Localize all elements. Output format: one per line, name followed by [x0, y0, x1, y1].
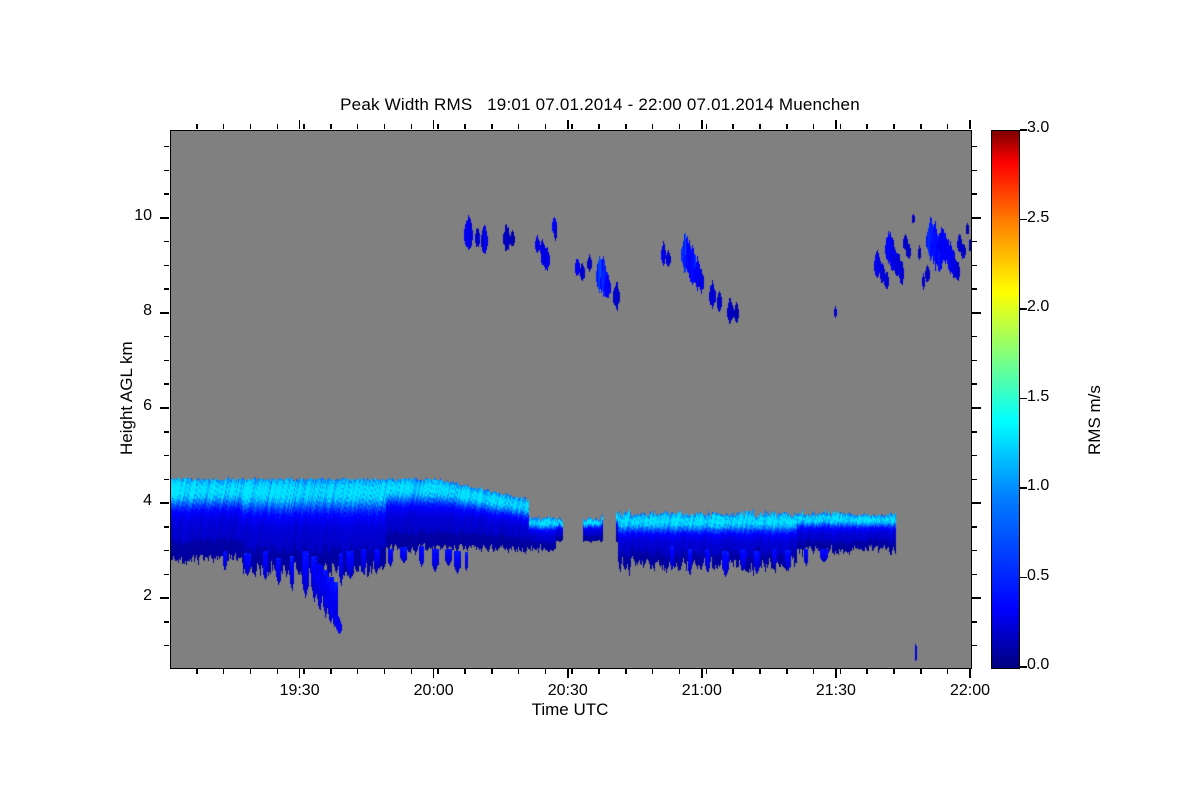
- x-minor-tick-top: [518, 124, 520, 129]
- x-minor-tick: [223, 669, 225, 674]
- x-major-tick-top: [567, 120, 569, 129]
- y-minor-tick: [164, 455, 169, 457]
- y-minor-tick: [164, 170, 169, 172]
- y-minor-tick-right: [972, 170, 977, 172]
- y-major-tick: [160, 312, 169, 314]
- x-major-tick-top: [299, 120, 301, 129]
- x-minor-tick: [813, 669, 815, 674]
- y-tick-label: 4: [92, 492, 152, 510]
- x-minor-tick: [357, 669, 359, 674]
- y-major-tick: [160, 597, 169, 599]
- x-minor-tick-top: [571, 124, 573, 129]
- y-tick-label: 2: [92, 587, 152, 605]
- x-major-tick: [567, 669, 569, 678]
- y-minor-tick: [164, 526, 169, 528]
- x-minor-tick: [866, 669, 868, 674]
- y-major-tick: [160, 407, 169, 409]
- x-major-tick: [433, 669, 435, 678]
- x-minor-tick-top: [920, 124, 922, 129]
- x-minor-tick-top: [679, 124, 681, 129]
- x-major-tick: [299, 669, 301, 678]
- x-minor-tick-top: [196, 124, 198, 129]
- y-minor-tick: [164, 645, 169, 647]
- x-major-tick-top: [835, 120, 837, 129]
- colorbar-tick: [1020, 129, 1027, 131]
- y-minor-tick: [164, 574, 169, 576]
- x-minor-tick-top: [813, 124, 815, 129]
- y-minor-tick: [164, 288, 169, 290]
- x-minor-tick: [196, 669, 198, 674]
- y-minor-tick: [164, 383, 169, 385]
- colorbar-tick-label: 1.0: [1027, 477, 1049, 495]
- x-minor-tick-top: [625, 124, 627, 129]
- x-minor-tick: [732, 669, 734, 674]
- x-minor-tick: [706, 669, 708, 674]
- y-minor-tick: [164, 550, 169, 552]
- x-minor-tick-top: [545, 124, 547, 129]
- x-minor-tick-top: [866, 124, 868, 129]
- y-axis-title: Height AGL km: [117, 341, 137, 455]
- colorbar-tick: [1020, 666, 1027, 668]
- heatmap-canvas: [171, 131, 971, 668]
- x-minor-tick-top: [706, 124, 708, 129]
- x-tick-label: 21:30: [781, 682, 891, 700]
- y-major-tick-right: [972, 217, 981, 219]
- x-major-tick: [969, 669, 971, 678]
- y-minor-tick: [164, 146, 169, 148]
- x-minor-tick: [518, 669, 520, 674]
- y-minor-tick-right: [972, 645, 977, 647]
- y-tick-label: 10: [92, 207, 152, 225]
- colorbar-tick-label: 0.0: [1027, 656, 1049, 674]
- x-minor-tick: [545, 669, 547, 674]
- y-minor-tick: [164, 621, 169, 623]
- y-minor-tick-right: [972, 265, 977, 267]
- x-minor-tick-top: [491, 124, 493, 129]
- y-minor-tick-right: [972, 574, 977, 576]
- x-minor-tick: [277, 669, 279, 674]
- x-minor-tick-top: [330, 124, 332, 129]
- x-minor-tick: [250, 669, 252, 674]
- x-minor-tick-top: [652, 124, 654, 129]
- colorbar-tick: [1020, 308, 1027, 310]
- y-minor-tick: [164, 265, 169, 267]
- x-minor-tick-top: [840, 124, 842, 129]
- x-tick-label: 19:30: [245, 682, 355, 700]
- x-minor-tick-top: [437, 124, 439, 129]
- y-minor-tick-right: [972, 193, 977, 195]
- colorbar-tick-label: 0.5: [1027, 567, 1049, 585]
- y-minor-tick-right: [972, 383, 977, 385]
- x-major-tick-top: [969, 120, 971, 129]
- y-major-tick: [160, 217, 169, 219]
- x-minor-tick-top: [893, 124, 895, 129]
- x-minor-tick: [759, 669, 761, 674]
- x-minor-tick-top: [411, 124, 413, 129]
- x-minor-tick: [384, 669, 386, 674]
- y-major-tick-right: [972, 597, 981, 599]
- x-minor-tick: [303, 669, 305, 674]
- x-minor-tick: [840, 669, 842, 674]
- y-minor-tick: [164, 193, 169, 195]
- y-minor-tick: [164, 431, 169, 433]
- y-major-tick: [160, 502, 169, 504]
- chart-title: Peak Width RMS 19:01 07.01.2014 - 22:00 …: [0, 95, 1200, 115]
- y-major-tick-right: [972, 312, 981, 314]
- x-minor-tick: [437, 669, 439, 674]
- x-minor-tick: [571, 669, 573, 674]
- x-minor-tick: [652, 669, 654, 674]
- x-minor-tick-top: [250, 124, 252, 129]
- y-tick-label: 8: [92, 302, 152, 320]
- x-minor-tick-top: [598, 124, 600, 129]
- x-major-tick-top: [701, 120, 703, 129]
- x-minor-tick: [411, 669, 413, 674]
- y-major-tick-right: [972, 407, 981, 409]
- x-minor-tick: [679, 669, 681, 674]
- colorbar-tick: [1020, 219, 1027, 221]
- x-major-tick: [835, 669, 837, 678]
- y-minor-tick-right: [972, 241, 977, 243]
- x-axis-title: Time UTC: [170, 700, 970, 720]
- x-minor-tick-top: [759, 124, 761, 129]
- y-minor-tick-right: [972, 431, 977, 433]
- colorbar-tick-label: 2.5: [1027, 209, 1049, 227]
- colorbar-tick-label: 2.0: [1027, 298, 1049, 316]
- y-minor-tick: [164, 360, 169, 362]
- colorbar-tick: [1020, 577, 1027, 579]
- colorbar-tick: [1020, 398, 1027, 400]
- y-minor-tick: [164, 336, 169, 338]
- x-minor-tick: [330, 669, 332, 674]
- x-minor-tick: [625, 669, 627, 674]
- colorbar-tick-label: 1.5: [1027, 388, 1049, 406]
- y-minor-tick-right: [972, 479, 977, 481]
- x-tick-label: 22:00: [915, 682, 1025, 700]
- y-minor-tick-right: [972, 550, 977, 552]
- y-minor-tick-right: [972, 288, 977, 290]
- colorbar-title: RMS m/s: [1085, 385, 1105, 455]
- x-tick-label: 21:00: [647, 682, 757, 700]
- x-minor-tick-top: [464, 124, 466, 129]
- figure-root: Peak Width RMS 19:01 07.01.2014 - 22:00 …: [0, 0, 1200, 800]
- x-minor-tick-top: [732, 124, 734, 129]
- x-tick-label: 20:00: [379, 682, 489, 700]
- x-minor-tick: [920, 669, 922, 674]
- x-minor-tick: [786, 669, 788, 674]
- y-major-tick-right: [972, 502, 981, 504]
- colorbar-tick-label: 3.0: [1027, 119, 1049, 137]
- x-minor-tick-top: [357, 124, 359, 129]
- plot-area: [170, 130, 972, 669]
- x-minor-tick-top: [384, 124, 386, 129]
- x-minor-tick-top: [277, 124, 279, 129]
- y-minor-tick-right: [972, 455, 977, 457]
- x-minor-tick: [598, 669, 600, 674]
- x-minor-tick-top: [303, 124, 305, 129]
- x-minor-tick: [464, 669, 466, 674]
- x-tick-label: 20:30: [513, 682, 623, 700]
- x-minor-tick-top: [223, 124, 225, 129]
- y-minor-tick-right: [972, 526, 977, 528]
- y-minor-tick-right: [972, 621, 977, 623]
- x-minor-tick: [893, 669, 895, 674]
- x-minor-tick: [491, 669, 493, 674]
- colorbar-tick: [1020, 487, 1027, 489]
- x-minor-tick-top: [786, 124, 788, 129]
- y-minor-tick: [164, 479, 169, 481]
- x-minor-tick: [947, 669, 949, 674]
- colorbar: [991, 130, 1020, 669]
- y-minor-tick-right: [972, 146, 977, 148]
- y-minor-tick: [164, 241, 169, 243]
- y-minor-tick-right: [972, 360, 977, 362]
- x-minor-tick-top: [947, 124, 949, 129]
- x-major-tick: [701, 669, 703, 678]
- x-major-tick-top: [433, 120, 435, 129]
- y-minor-tick-right: [972, 336, 977, 338]
